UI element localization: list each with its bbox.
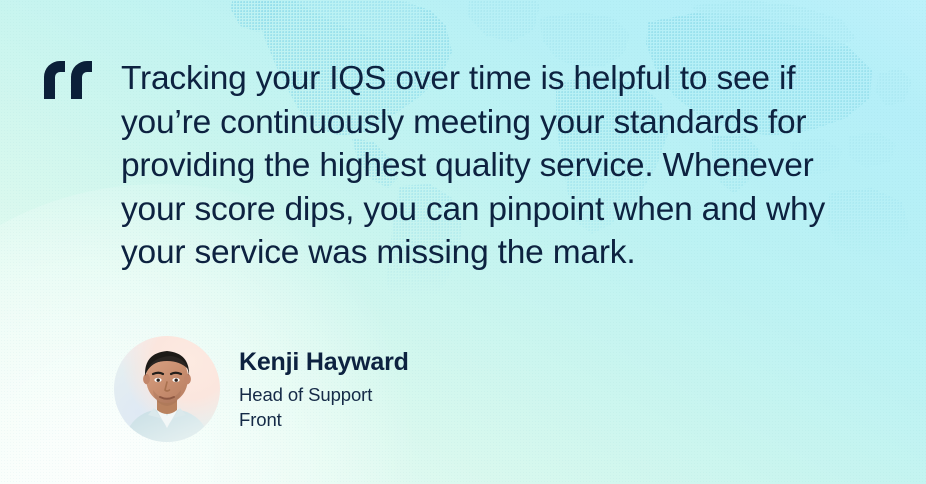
quote-text: Tracking your IQS over time is helpful t… [121, 57, 861, 275]
attribution-block: Kenji Hayward Head of Support Front [114, 336, 409, 442]
author-role: Head of Support [239, 382, 409, 407]
attribution-text: Kenji Hayward Head of Support Front [239, 347, 409, 432]
avatar [114, 336, 220, 442]
author-company: Front [239, 407, 409, 432]
double-quote-icon [44, 61, 92, 99]
author-name: Kenji Hayward [239, 347, 409, 377]
testimonial-quote-card: Tracking your IQS over time is helpful t… [0, 0, 926, 484]
